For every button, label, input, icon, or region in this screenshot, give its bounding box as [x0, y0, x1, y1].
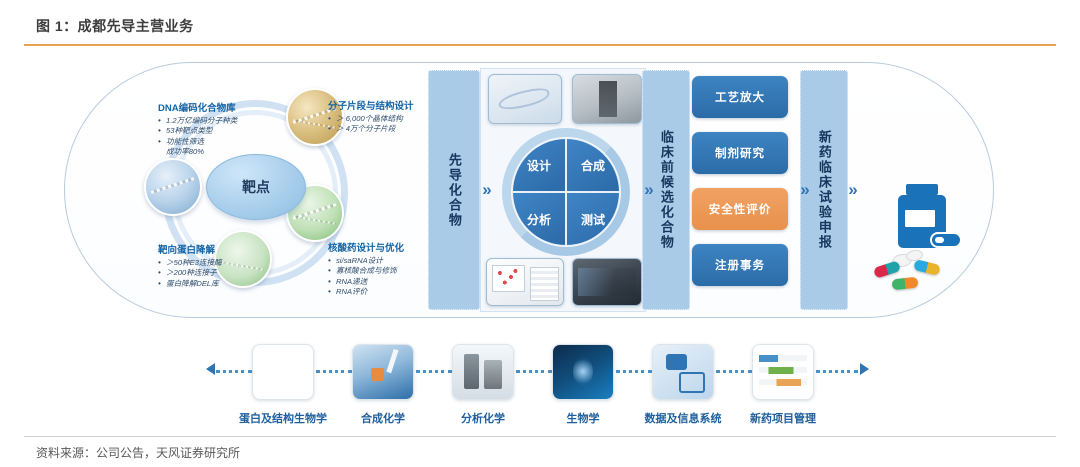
fragment-design-block: 分子片段与结构设计 ＞ 6,000个晶体结构 ＞ 4万个分子片段: [328, 98, 414, 135]
arrow-right-icon: [860, 363, 869, 375]
cell-icon: [553, 345, 613, 399]
connector-line: [616, 370, 652, 373]
capability-card-protein-structural-biology[interactable]: [252, 344, 314, 400]
dev-box-formulation-research[interactable]: 制剂研究: [692, 132, 788, 174]
stage-label-preclinical-candidate: 临床前候选化合物: [659, 130, 673, 250]
arrow-left-icon: [206, 363, 215, 375]
connector-line: [716, 370, 752, 373]
target-hub-label: 靶点: [242, 177, 270, 197]
chevron-right-icon: »: [842, 180, 864, 200]
pipette-icon: [353, 345, 413, 399]
list-item: 1.2万亿编码分子种类: [158, 116, 237, 126]
list-item: si/saRNA设计: [328, 256, 404, 266]
dna-library-heading: DNA编码化合物库: [158, 100, 237, 114]
capability-card-new-drug-project-management[interactable]: [752, 344, 814, 400]
list-item: RNA评价: [328, 287, 404, 297]
title-divider: [24, 44, 1056, 46]
nucleic-acid-block: 核酸药设计与优化 si/saRNA设计 寡核酸合成与修饰 RNA递送 RNA评价: [328, 240, 404, 298]
photo-bubble-data-plot: [486, 258, 564, 306]
capsule-icon: [891, 277, 918, 291]
diagram-canvas: 靶点 DNA编码化合物库 1.2万亿编码分子种类 53种靶点类型 功能性筛选 成…: [24, 58, 1056, 426]
list-item: 53种靶点类型: [158, 126, 237, 136]
dmta-label-testing: 测试: [581, 211, 605, 228]
photo-bubble-molecule: [488, 74, 562, 124]
capability-card-analytical-chemistry[interactable]: [452, 344, 514, 400]
dev-box-process-scale-up[interactable]: 工艺放大: [692, 76, 788, 118]
dmta-label-design: 设计: [527, 157, 551, 174]
connector-line: [216, 370, 252, 373]
chevron-right-icon: »: [638, 180, 660, 200]
fragment-node-icon: [144, 158, 202, 216]
dev-box-label: 安全性评价: [709, 201, 772, 217]
fragment-design-heading: 分子片段与结构设计: [328, 98, 414, 112]
dna-library-block: DNA编码化合物库 1.2万亿编码分子种类 53种靶点类型 功能性筛选 成功率8…: [158, 100, 237, 158]
capability-card-data-information-systems[interactable]: [652, 344, 714, 400]
discovery-cluster: 靶点 DNA编码化合物库 1.2万亿编码分子种类 53种靶点类型 功能性筛选 成…: [110, 72, 440, 312]
protein-degradation-heading: 靶向蛋白降解: [158, 242, 222, 256]
stage-label-ind-application: 新药临床试验申报: [817, 130, 831, 250]
footer-divider: [24, 436, 1056, 437]
dev-box-safety-evaluation[interactable]: 安全性评价: [692, 188, 788, 230]
fragment-design-bullets: ＞ 6,000个晶体结构 ＞ 4万个分子片段: [328, 114, 414, 135]
dmta-label-analysis: 分析: [527, 211, 551, 228]
photo-bubble-lab-equipment: [572, 74, 642, 124]
capability-card-biology[interactable]: [552, 344, 614, 400]
nucleic-acid-bullets: si/saRNA设计 寡核酸合成与修饰 RNA递送 RNA评价: [328, 256, 404, 298]
list-item: 功能性筛选: [158, 137, 237, 147]
stage-band-lead-compound: 先导化合物: [428, 70, 480, 310]
degradation-node-icon: [214, 230, 272, 288]
connector-line: [316, 370, 352, 373]
database-icon: [653, 345, 713, 399]
dmta-cycle: 设计 合成 分析 测试: [512, 138, 620, 246]
capability-card-synthetic-chemistry[interactable]: [352, 344, 414, 400]
list-item: ＞ 4万个分子片段: [328, 124, 414, 134]
dmta-quadrant-testing: 测试: [566, 192, 620, 246]
chevron-right-icon: »: [476, 180, 498, 200]
list-item: 成功率80%: [158, 147, 237, 157]
medicine-bottle-icon: [894, 184, 952, 248]
dna-library-bullets: 1.2万亿编码分子种类 53种靶点类型 功能性筛选 成功率80%: [158, 116, 237, 158]
capability-label: 新药项目管理: [720, 410, 846, 426]
connector-line: [816, 370, 858, 373]
dev-box-label: 注册事务: [715, 257, 765, 273]
nucleic-acid-heading: 核酸药设计与优化: [328, 240, 404, 254]
dev-box-label: 工艺放大: [715, 89, 765, 105]
list-item: ＞ 6,000个晶体结构: [328, 114, 414, 124]
source-note: 资料来源：公司公告，天风证券研究所: [36, 444, 240, 461]
gantt-chart-icon: [753, 345, 813, 399]
list-item: ＞50种E3连接酶: [158, 258, 222, 268]
dmta-quadrant-synthesis: 合成: [566, 138, 620, 192]
protein-degradation-bullets: ＞50种E3连接酶 ＞200种连接子 蛋白降解DEL库: [158, 258, 222, 289]
list-item: 蛋白降解DEL库: [158, 279, 222, 289]
dmta-quadrant-analysis: 分析: [512, 192, 566, 246]
target-hub: 靶点: [206, 154, 306, 220]
protein-degradation-block: 靶向蛋白降解 ＞50种E3连接酶 ＞200种连接子 蛋白降解DEL库: [158, 242, 222, 289]
capsule-icon: [873, 260, 901, 278]
dev-box-label: 制剂研究: [715, 145, 765, 161]
page-title: 图 1：成都先导主营业务: [36, 16, 194, 36]
capsule-icon: [913, 259, 941, 276]
dev-box-regulatory-affairs[interactable]: 注册事务: [692, 244, 788, 286]
list-item: ＞200种连接子: [158, 268, 222, 278]
drug-product-graphic: [870, 178, 990, 308]
list-item: 寡核酸合成与修饰: [328, 266, 404, 276]
chevron-right-icon: »: [794, 180, 816, 200]
capability-row: 蛋白及结构生物学 合成化学 分析化学 生物学 数据及信息系统 新药项目管理: [24, 334, 1056, 426]
stage-label-lead-compound: 先导化合物: [447, 153, 461, 228]
connector-line: [416, 370, 452, 373]
list-item: RNA递送: [328, 277, 404, 287]
connector-line: [516, 370, 552, 373]
photo-bubble-instrument-room: [572, 258, 642, 306]
dmta-label-synthesis: 合成: [581, 157, 605, 174]
protein-ribbon-icon: [253, 345, 313, 399]
instrument-icon: [453, 345, 513, 399]
